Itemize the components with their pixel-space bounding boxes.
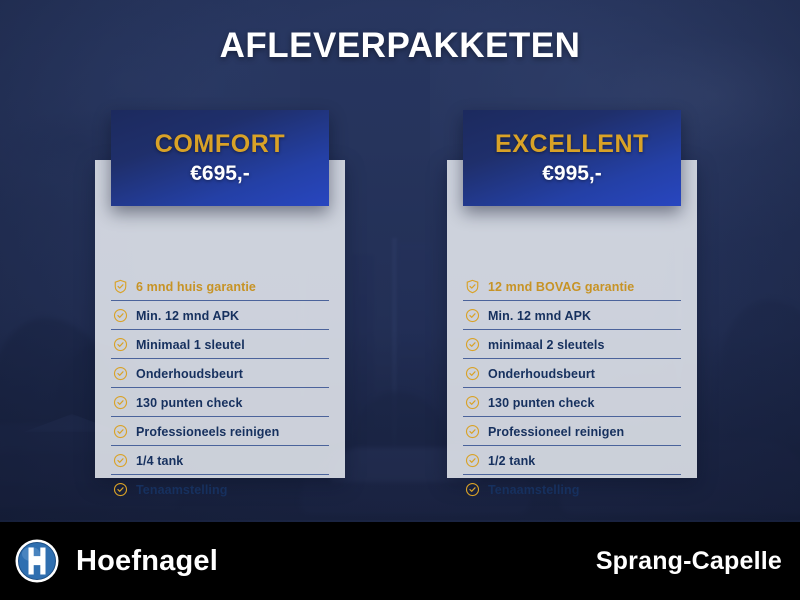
package-card-header: EXCELLENT €995,-	[463, 110, 681, 206]
circle-check-icon	[113, 395, 128, 410]
feature-label: Minimaal 1 sleutel	[136, 338, 245, 352]
feature-label: 130 punten check	[488, 396, 595, 410]
feature-row: minimaal 2 sleutels	[447, 330, 697, 359]
feature-row: Onderhoudsbeurt	[95, 359, 345, 388]
circle-check-icon	[465, 424, 480, 439]
circle-check-icon	[113, 337, 128, 352]
feature-row: Min. 12 mnd APK	[447, 301, 697, 330]
circle-check-icon	[113, 453, 128, 468]
feature-row: 130 punten check	[95, 388, 345, 417]
circle-check-icon	[465, 453, 480, 468]
package-card-body: 12 mnd BOVAG garantieMin. 12 mnd APKmini…	[447, 160, 697, 478]
feature-list: 6 mnd huis garantieMin. 12 mnd APKMinima…	[95, 272, 345, 504]
feature-label: 130 punten check	[136, 396, 243, 410]
feature-label: Min. 12 mnd APK	[136, 309, 239, 323]
feature-list: 12 mnd BOVAG garantieMin. 12 mnd APKmini…	[447, 272, 697, 504]
feature-row: Minimaal 1 sleutel	[95, 330, 345, 359]
shield-check-icon	[465, 279, 480, 294]
feature-row: 1/2 tank	[447, 446, 697, 475]
feature-row: 130 punten check	[447, 388, 697, 417]
feature-row: Professioneel reinigen	[447, 417, 697, 446]
feature-label: 12 mnd BOVAG garantie	[488, 280, 634, 294]
feature-row: Professioneels reinigen	[95, 417, 345, 446]
circle-check-icon	[113, 308, 128, 323]
feature-row: Tenaamstelling	[95, 475, 345, 504]
package-name: EXCELLENT	[495, 131, 649, 157]
circle-check-icon	[113, 424, 128, 439]
feature-label: 1/4 tank	[136, 454, 183, 468]
feature-row: 6 mnd huis garantie	[95, 272, 345, 301]
feature-row: 12 mnd BOVAG garantie	[447, 272, 697, 301]
feature-label: Tenaamstelling	[488, 483, 579, 497]
feature-row: Onderhoudsbeurt	[447, 359, 697, 388]
feature-label: 1/2 tank	[488, 454, 535, 468]
hoefnagel-logo-icon	[14, 538, 60, 584]
package-card-header: COMFORT €695,-	[111, 110, 329, 206]
feature-row: Tenaamstelling	[447, 475, 697, 504]
feature-label: Professioneels reinigen	[136, 425, 279, 439]
feature-label: Onderhoudsbeurt	[488, 367, 595, 381]
circle-check-icon	[465, 395, 480, 410]
feature-label: Tenaamstelling	[136, 483, 227, 497]
shield-check-icon	[113, 279, 128, 294]
feature-row: 1/4 tank	[95, 446, 345, 475]
feature-label: Professioneel reinigen	[488, 425, 624, 439]
feature-label: minimaal 2 sleutels	[488, 338, 605, 352]
circle-check-icon	[113, 366, 128, 381]
circle-check-icon	[465, 337, 480, 352]
circle-check-icon	[113, 482, 128, 497]
page-title: AFLEVERPAKKETEN	[0, 26, 800, 66]
package-name: COMFORT	[155, 131, 286, 157]
package-price: €695,-	[190, 163, 250, 185]
circle-check-icon	[465, 482, 480, 497]
circle-check-icon	[465, 308, 480, 323]
circle-check-icon	[465, 366, 480, 381]
footer-bar: Hoefnagel Sprang-Capelle	[0, 522, 800, 600]
location-label: Sprang-Capelle	[596, 547, 782, 576]
slide-canvas: AFLEVERPAKKETEN 6 mnd huis garantieMin. …	[0, 0, 800, 600]
feature-label: Onderhoudsbeurt	[136, 367, 243, 381]
package-price: €995,-	[542, 163, 602, 185]
brand-name: Hoefnagel	[76, 545, 218, 578]
package-card-body: 6 mnd huis garantieMin. 12 mnd APKMinima…	[95, 160, 345, 478]
feature-row: Min. 12 mnd APK	[95, 301, 345, 330]
feature-label: 6 mnd huis garantie	[136, 280, 256, 294]
feature-label: Min. 12 mnd APK	[488, 309, 591, 323]
